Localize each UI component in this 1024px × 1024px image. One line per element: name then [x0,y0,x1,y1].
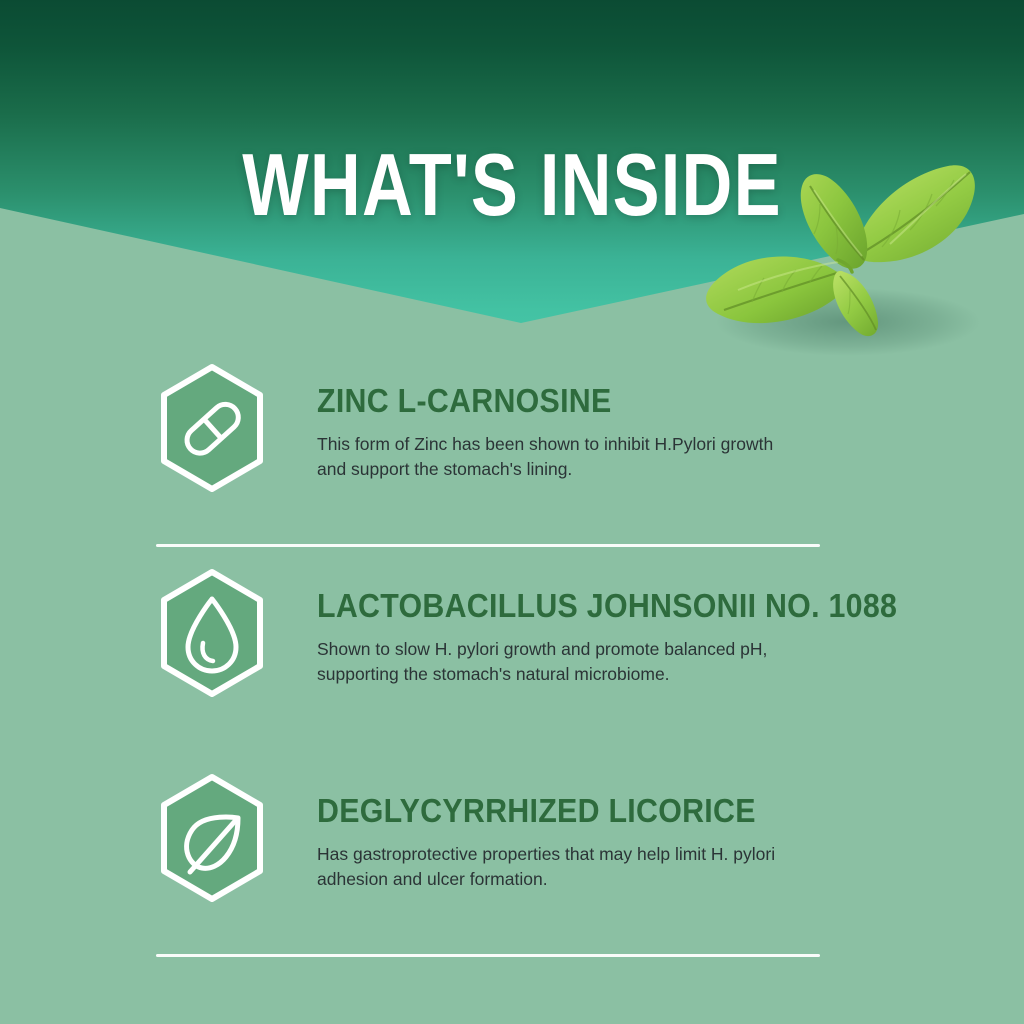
water-droplet-icon [156,567,268,699]
ingredient-title: LACTOBACILLUS JOHNSONII NO. 1088 [317,589,851,622]
divider [156,544,820,547]
ingredient-description: Has gastroprotective properties that may… [317,842,787,893]
list-item[interactable]: LACTOBACILLUS JOHNSONII NO. 1088 Shown t… [0,563,1024,768]
list-item[interactable]: ZINC L-CARNOSINE This form of Zinc has b… [0,358,1024,563]
ingredient-title: DEGLYCYRRHIZED LICORICE [317,794,756,827]
leaf-icon [156,772,268,904]
page-title: WHAT'S INSIDE [102,141,921,229]
ingredient-description: This form of Zinc has been shown to inhi… [317,432,787,483]
list-item-text: DEGLYCYRRHIZED LICORICE Has gastroprotec… [317,768,794,893]
list-item-text: LACTOBACILLUS JOHNSONII NO. 1088 Shown t… [317,563,897,688]
ingredient-description: Shown to slow H. pylori growth and promo… [317,637,787,688]
list-item[interactable]: DEGLYCYRRHIZED LICORICE Has gastroprotec… [0,768,1024,973]
list-item-text: ZINC L-CARNOSINE This form of Zinc has b… [317,358,787,483]
capsule-pill-icon [156,362,268,494]
ingredients-poster: WHAT'S INSIDE [0,0,1024,1024]
ingredient-title: ZINC L-CARNOSINE [317,384,749,417]
ingredient-list: ZINC L-CARNOSINE This form of Zinc has b… [0,358,1024,973]
